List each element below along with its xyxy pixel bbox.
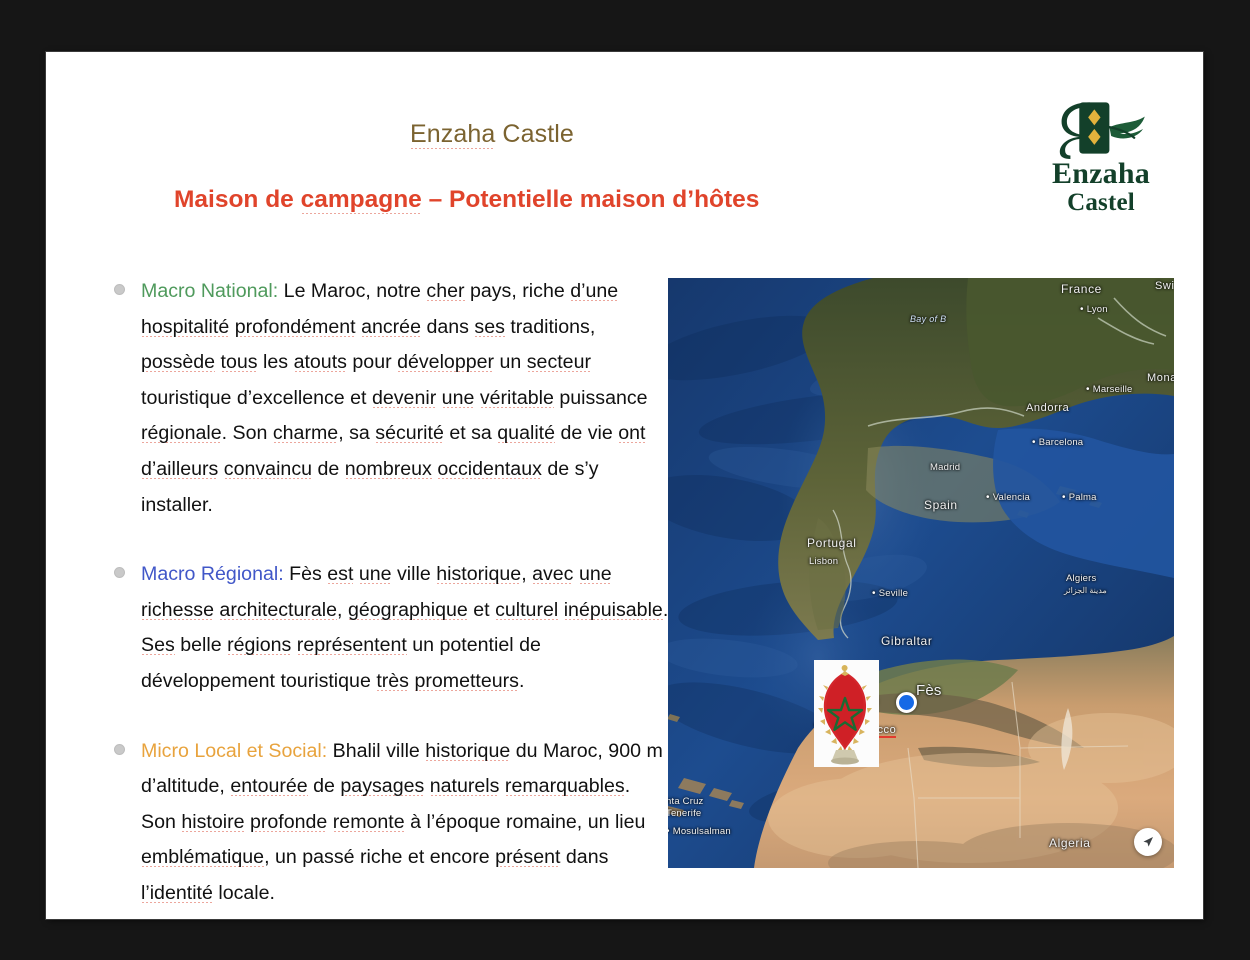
misspelled-word: histoire — [181, 811, 244, 836]
misspelled-word: est — [327, 563, 353, 588]
satellite-map[interactable]: France Swi Mona Andorra Spain Portugal G… — [668, 278, 1174, 868]
misspelled-word: d’ailleurs — [141, 458, 218, 483]
misspelled-word: possède — [141, 351, 215, 376]
logo-line-1: Enzaha — [1021, 159, 1181, 190]
bullet-text: Micro Local et Social: Bhalil ville hist… — [141, 734, 670, 912]
misspelled-word: présent — [495, 846, 560, 871]
misspelled-word: profondément — [235, 316, 356, 341]
list-item: Macro Régional: Fès est une ville histor… — [105, 557, 670, 699]
misspelled-word: architecturale — [219, 599, 337, 624]
misspelled-word: avec — [532, 563, 573, 588]
brand-logo: Enzaha Castel — [1021, 97, 1181, 215]
misspelled-word: une — [442, 387, 475, 412]
bullet-list: Macro National: Le Maroc, notre cher pay… — [105, 274, 670, 919]
misspelled-word: l’identité — [141, 882, 213, 907]
bullet-lead: Micro Local et Social: — [141, 740, 327, 762]
map-imagery — [668, 278, 1174, 868]
misspelled-word: véritable — [480, 387, 554, 412]
misspelled-word: richesse — [141, 599, 214, 624]
misspelled-word: ont — [618, 422, 645, 447]
misspelled-word: ses — [474, 316, 505, 341]
misspelled-word: géographique — [348, 599, 468, 624]
subtitle-misspelled-word: campagne — [301, 186, 422, 215]
misspelled-word: ancrée — [361, 316, 421, 341]
bullet-text: Macro National: Le Maroc, notre cher pay… — [141, 274, 670, 523]
misspelled-word: hospitalité — [141, 316, 229, 341]
bullet-lead: Macro Régional: — [141, 563, 284, 585]
presentation-slide: Enzaha Castle Maison de campagne – Poten… — [46, 52, 1203, 919]
bullet-dot-icon — [114, 744, 125, 755]
misspelled-word: représentent — [297, 634, 407, 659]
misspelled-word: culturel — [495, 599, 558, 624]
misspelled-word: inépuisable — [564, 599, 663, 624]
misspelled-word: régionale — [141, 422, 222, 447]
enzaha-monogram-icon — [1035, 97, 1168, 159]
misspelled-word: remonte — [333, 811, 405, 836]
logo-line-2: Castel — [1021, 190, 1181, 216]
misspelled-word: une — [579, 563, 612, 588]
map-navigation-button[interactable] — [1134, 828, 1162, 856]
bullet-dot-icon — [114, 284, 125, 295]
screen: Enzaha Castle Maison de campagne – Poten… — [0, 0, 1250, 960]
misspelled-word: une — [359, 563, 392, 588]
misspelled-word: naturels — [430, 775, 500, 800]
misspelled-word: cher — [426, 280, 464, 305]
morocco-flag-overlay — [814, 660, 879, 767]
bullet-dot-icon — [114, 567, 125, 578]
misspelled-word: sécurité — [375, 422, 444, 447]
misspelled-word: convaincu — [224, 458, 312, 483]
bullet-lead: Macro National: — [141, 280, 278, 302]
subtitle-part-a: Maison de — [174, 186, 301, 213]
misspelled-word: Ses — [141, 634, 175, 659]
misspelled-word: qualité — [497, 422, 555, 447]
misspelled-word: développer — [397, 351, 494, 376]
page-title: Enzaha Castle — [410, 120, 574, 149]
misspelled-word: régions — [227, 634, 291, 659]
misspelled-word: devenir — [372, 387, 436, 412]
slide-subtitle: Maison de campagne – Potentielle maison … — [174, 186, 759, 214]
logo-wordmark: Enzaha Castel — [1021, 159, 1181, 215]
misspelled-word: emblématique — [141, 846, 264, 871]
bullet-text: Macro Régional: Fès est une ville histor… — [141, 557, 670, 699]
misspelled-word: charme — [273, 422, 338, 447]
morocco-desk-flag-icon — [814, 660, 879, 767]
bullet-body: Bhalil ville historique du Maroc, 900 m … — [141, 740, 663, 907]
list-item: Macro National: Le Maroc, notre cher pay… — [105, 274, 670, 523]
misspelled-word: prometteurs — [414, 670, 519, 695]
bullet-body: Le Maroc, notre cher pays, riche d’une h… — [141, 280, 648, 516]
misspelled-word: paysages — [340, 775, 424, 800]
list-item: Micro Local et Social: Bhalil ville hist… — [105, 734, 670, 912]
misspelled-word: nombreux — [345, 458, 432, 483]
title-misspelled-word: Enzaha — [410, 120, 495, 150]
subtitle-part-b: – Potentielle maison d’hôtes — [422, 186, 760, 213]
misspelled-word: historique — [436, 563, 521, 588]
misspelled-word: atouts — [294, 351, 347, 376]
blue-place-marker[interactable] — [896, 692, 917, 713]
misspelled-word: profonde — [250, 811, 327, 836]
misspelled-word: historique — [425, 740, 510, 765]
misspelled-word: occidentaux — [437, 458, 542, 483]
misspelled-word: tous — [221, 351, 258, 376]
misspelled-word: entourée — [230, 775, 307, 800]
navigation-arrow-icon — [1141, 835, 1155, 849]
misspelled-word: d’une — [570, 280, 618, 305]
title-rest: Castle — [495, 120, 574, 148]
misspelled-word: secteur — [527, 351, 591, 376]
misspelled-word: très — [376, 670, 409, 695]
misspelled-word: remarquables — [505, 775, 625, 800]
